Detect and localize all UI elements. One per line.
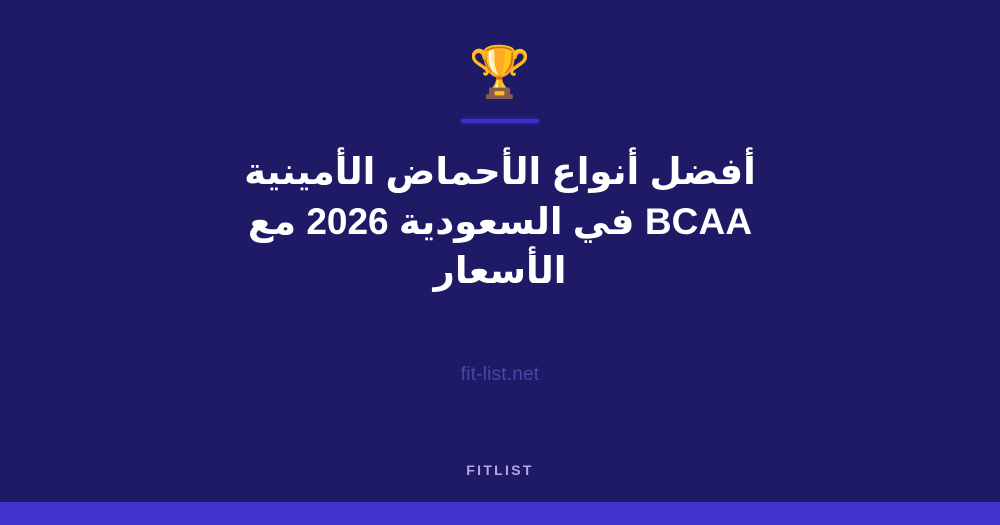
trophy-icon: 🏆 [469, 41, 531, 103]
page-title: أفضل أنواع الأحماض الأمينية BCAA في السع… [190, 147, 810, 296]
title-divider [461, 119, 539, 123]
bottom-accent-bar [0, 502, 1000, 525]
social-share-card: 🏆 أفضل أنواع الأحماض الأمينية BCAA في ال… [0, 0, 1000, 525]
site-url[interactable]: fit-list.net [461, 364, 539, 386]
brand-footer-label: FITLIST [0, 462, 1000, 478]
